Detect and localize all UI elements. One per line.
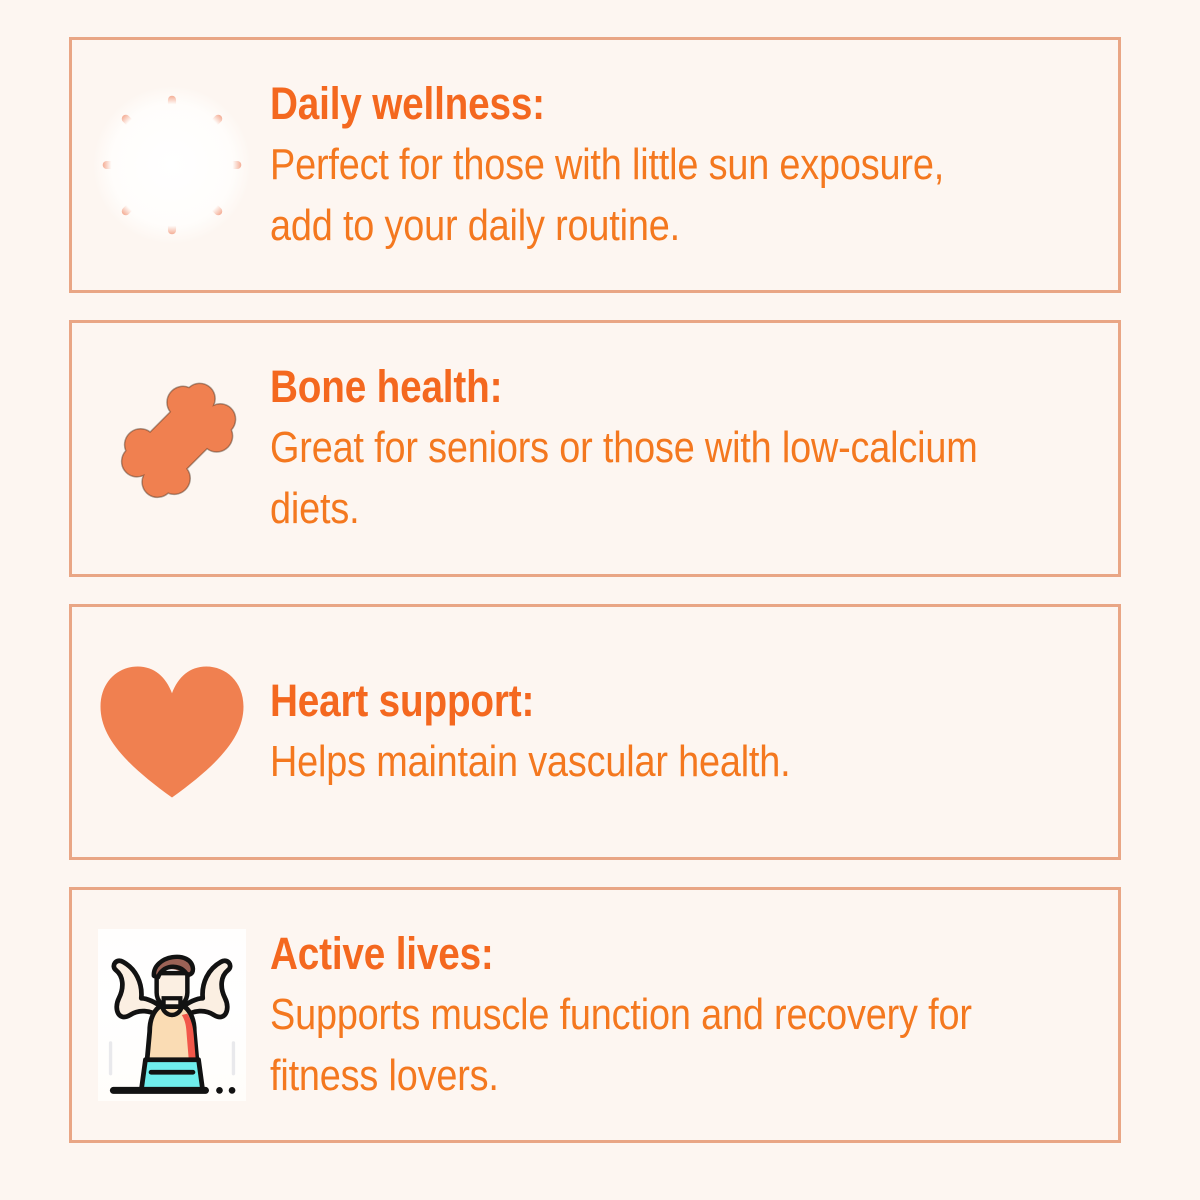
card-title: Daily wellness: [270,74,984,134]
flexing-person-icon [88,931,256,1099]
benefit-card-bone-health[interactable]: Bone health: Great for seniors or those … [69,320,1121,576]
card-text: Bone health: Great for seniors or those … [256,357,1104,539]
benefit-card-active-lives[interactable]: Active lives: Supports muscle function a… [69,887,1121,1143]
card-body: Perfect for those with little sun exposu… [270,134,984,256]
card-body: Great for seniors or those with low-calc… [270,417,984,539]
card-title: Heart support: [270,671,984,731]
card-text: Active lives: Supports muscle function a… [256,924,1104,1106]
bone-icon [88,364,256,532]
sun-icon [88,81,256,249]
sun-icon-halo [94,87,250,243]
card-text: Heart support: Helps maintain vascular h… [256,671,1104,792]
card-title: Bone health: [270,357,984,417]
benefit-card-heart-support[interactable]: Heart support: Helps maintain vascular h… [69,604,1121,860]
heart-icon [88,648,256,816]
card-body: Supports muscle function and recovery fo… [270,984,984,1106]
card-text: Daily wellness: Perfect for those with l… [256,74,1104,256]
benefit-card-daily-wellness[interactable]: Daily wellness: Perfect for those with l… [69,37,1121,293]
card-body: Helps maintain vascular health. [270,731,984,792]
card-title: Active lives: [270,924,984,984]
benefit-list: Daily wellness: Perfect for those with l… [0,0,1200,1200]
